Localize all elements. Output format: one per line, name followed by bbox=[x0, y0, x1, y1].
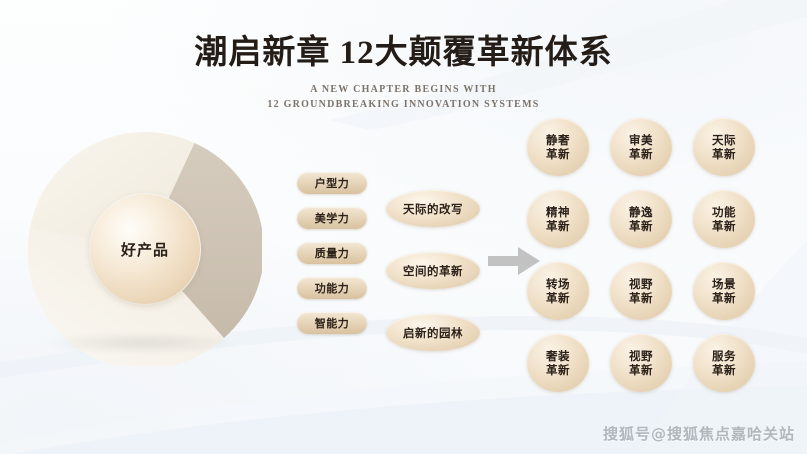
donut-diagram: 好产品 bbox=[28, 132, 262, 366]
pill-item-0[interactable]: 户型力 bbox=[297, 172, 367, 194]
donut-shadow bbox=[42, 332, 242, 354]
bubble-line-1: 功能 bbox=[712, 205, 736, 219]
bubble-item-9[interactable]: 奢装 革新 bbox=[527, 334, 589, 392]
bubble-line-2: 革新 bbox=[546, 219, 570, 233]
bubble-item-2[interactable]: 天际 革新 bbox=[693, 118, 755, 176]
page-title: 潮启新章 12大颠覆革新体系 bbox=[0, 34, 807, 73]
bubble-line-1: 场景 bbox=[712, 277, 736, 291]
donut-core: 好产品 bbox=[90, 194, 200, 304]
bubble-item-7[interactable]: 视野 革新 bbox=[610, 262, 672, 320]
pill-item-2[interactable]: 质量力 bbox=[297, 242, 367, 264]
bubble-item-3[interactable]: 精神 革新 bbox=[527, 190, 589, 248]
bubble-line-2: 革新 bbox=[546, 291, 570, 305]
capability-pill-list: 户型力 美学力 质量力 功能力 智能力 bbox=[297, 172, 367, 334]
bubble-line-1: 奢装 bbox=[546, 349, 570, 363]
bubble-line-2: 革新 bbox=[629, 147, 653, 161]
subtitle-line-2: 12 GROUNDBREAKING INNOVATION SYSTEMS bbox=[0, 97, 807, 113]
bubble-line-2: 革新 bbox=[712, 219, 736, 233]
bubble-line-2: 革新 bbox=[712, 147, 736, 161]
bubble-item-4[interactable]: 静逸 革新 bbox=[610, 190, 672, 248]
pill-item-1[interactable]: 美学力 bbox=[297, 207, 367, 229]
innovation-bubble-grid: 静奢 革新 审美 革新 天际 革新 精神 革新 静逸 革新 功能 革新 转场 革… bbox=[527, 118, 755, 392]
ellipse-item-0[interactable]: 天际的改写 bbox=[386, 190, 480, 227]
bubble-line-1: 静逸 bbox=[629, 205, 653, 219]
subtitle-line-1: A NEW CHAPTER BEGINS WITH bbox=[0, 82, 807, 98]
bubble-item-5[interactable]: 功能 革新 bbox=[693, 190, 755, 248]
bubble-item-8[interactable]: 场景 革新 bbox=[693, 262, 755, 320]
bubble-item-10[interactable]: 视野 革新 bbox=[610, 334, 672, 392]
bubble-line-2: 革新 bbox=[546, 363, 570, 377]
bubble-item-6[interactable]: 转场 革新 bbox=[527, 262, 589, 320]
bubble-line-1: 服务 bbox=[712, 349, 736, 363]
theme-ellipse-list: 天际的改写 空间的革新 启新的园林 bbox=[386, 190, 480, 351]
bubble-item-1[interactable]: 审美 革新 bbox=[610, 118, 672, 176]
bubble-line-1: 视野 bbox=[629, 349, 653, 363]
donut-core-label: 好产品 bbox=[121, 239, 169, 260]
bubble-line-2: 革新 bbox=[546, 147, 570, 161]
header: 潮启新章 12大颠覆革新体系 A NEW CHAPTER BEGINS WITH… bbox=[0, 34, 807, 113]
bubble-item-0[interactable]: 静奢 革新 bbox=[527, 118, 589, 176]
ellipse-item-2[interactable]: 启新的园林 bbox=[386, 314, 480, 351]
bubble-line-2: 革新 bbox=[629, 363, 653, 377]
bubble-line-1: 视野 bbox=[629, 277, 653, 291]
slide-canvas: 潮启新章 12大颠覆革新体系 A NEW CHAPTER BEGINS WITH… bbox=[0, 0, 807, 454]
bubble-line-1: 转场 bbox=[546, 277, 570, 291]
bubble-line-2: 革新 bbox=[629, 291, 653, 305]
pill-item-4[interactable]: 智能力 bbox=[297, 312, 367, 334]
ellipse-item-1[interactable]: 空间的革新 bbox=[386, 252, 480, 289]
bubble-line-1: 精神 bbox=[546, 205, 570, 219]
bubble-line-1: 天际 bbox=[712, 133, 736, 147]
bubble-item-11[interactable]: 服务 革新 bbox=[693, 334, 755, 392]
bubble-line-2: 革新 bbox=[712, 363, 736, 377]
bubble-line-2: 革新 bbox=[712, 291, 736, 305]
page-subtitle: A NEW CHAPTER BEGINS WITH 12 GROUNDBREAK… bbox=[0, 82, 807, 113]
bubble-line-1: 审美 bbox=[629, 133, 653, 147]
pill-item-3[interactable]: 功能力 bbox=[297, 277, 367, 299]
watermark: 搜狐号@搜狐焦点嘉哈关站 bbox=[603, 423, 795, 444]
bubble-line-2: 革新 bbox=[629, 219, 653, 233]
bubble-line-1: 静奢 bbox=[546, 133, 570, 147]
